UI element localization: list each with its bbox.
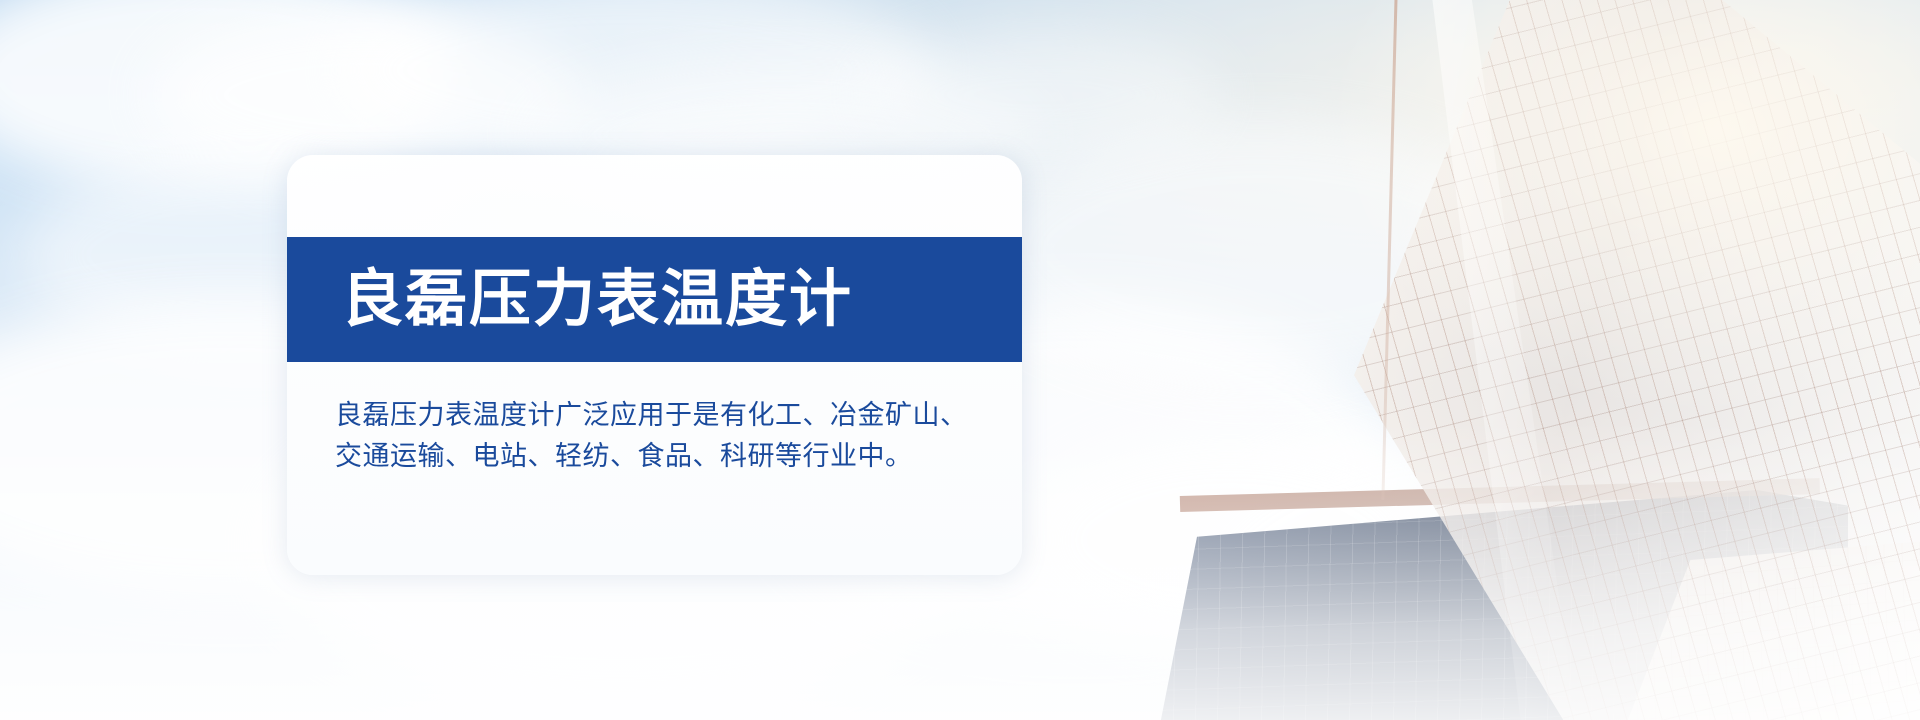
card-description: 良磊压力表温度计广泛应用于是有化工、冶金矿山、交通运输、电站、轻纺、食品、科研等… [335, 395, 982, 477]
promo-card: 良磊压力表温度计 良磊压力表温度计广泛应用于是有化工、冶金矿山、交通运输、电站、… [287, 155, 1022, 575]
page-title: 良磊压力表温度计 [341, 269, 853, 331]
banner-stage: 良磊压力表温度计 良磊压力表温度计广泛应用于是有化工、冶金矿山、交通运输、电站、… [0, 0, 1920, 720]
title-banner-bar: 良磊压力表温度计 [287, 237, 1022, 362]
